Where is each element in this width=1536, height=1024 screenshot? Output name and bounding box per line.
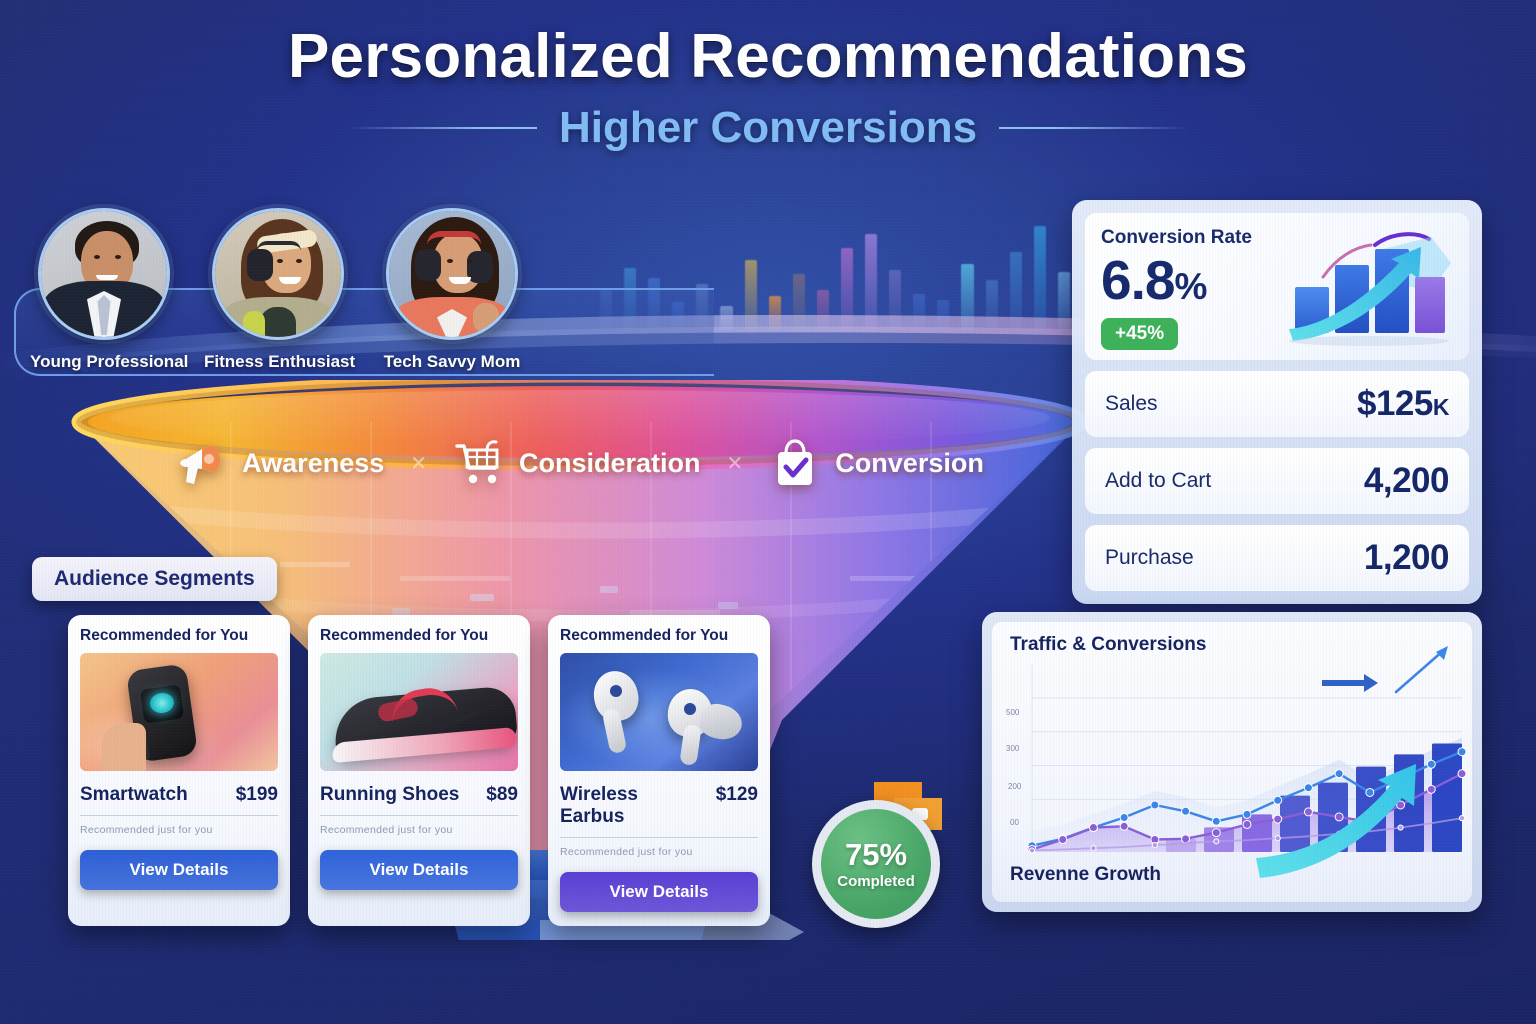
funnel-stage-label: Consideration xyxy=(519,448,701,479)
decor-bar xyxy=(769,296,781,330)
product-title: Smartwatch xyxy=(80,784,188,806)
persona-item[interactable]: Young Professional xyxy=(30,208,178,372)
decor-bar xyxy=(961,264,973,330)
product-card[interactable]: Recommended for You Running Shoes $89 Re… xyxy=(308,615,530,926)
view-details-button[interactable]: View Details xyxy=(320,850,518,890)
growth-bars-arrow-icon xyxy=(1279,229,1459,357)
chart-title: Traffic & Conversions xyxy=(1010,634,1206,656)
page-title: Personalized Recommendations xyxy=(0,24,1536,89)
subtitle-row: Higher Conversions xyxy=(0,103,1536,153)
kpi-row[interactable]: Add to Cart 4,200 xyxy=(1085,448,1469,514)
progress-badge: 75% Completed xyxy=(812,800,940,928)
persona-list: Young Professional Fitness Enthusiast xyxy=(30,208,526,372)
product-card[interactable]: Recommended for You Wireless Earbus $129… xyxy=(548,615,770,926)
card-title-row: Running Shoes $89 xyxy=(320,784,518,806)
kpi-value-suffix: K xyxy=(1433,394,1449,420)
smartwatch-image xyxy=(80,653,278,771)
kpi-row[interactable]: Sales $125K xyxy=(1085,371,1469,437)
decor-bar xyxy=(841,248,853,330)
page-header: Personalized Recommendations Higher Conv… xyxy=(0,24,1536,153)
card-title-row: Smartwatch $199 xyxy=(80,784,278,806)
view-details-button[interactable]: View Details xyxy=(560,872,758,912)
decor-bar xyxy=(1010,252,1022,330)
product-note: Recommended just for you xyxy=(560,846,758,858)
persona-item[interactable]: Fitness Enthusiast xyxy=(204,208,352,372)
conversion-rate-card[interactable]: Conversion Rate 6.8% +45% xyxy=(1085,213,1469,360)
kpi-row-label: Sales xyxy=(1105,392,1158,416)
businessman-avatar xyxy=(38,208,170,340)
chart-canvas xyxy=(992,622,1472,902)
page-subtitle: Higher Conversions xyxy=(559,103,977,153)
product-price: $89 xyxy=(486,784,518,806)
progress-percent: 75% xyxy=(845,839,907,870)
product-price: $129 xyxy=(716,784,758,806)
kpi-row-label: Purchase xyxy=(1105,546,1194,570)
shopping-bag-check-icon xyxy=(769,437,821,489)
decor-bar xyxy=(913,294,925,330)
card-kicker: Recommended for You xyxy=(560,627,758,645)
audience-segments-pill[interactable]: Audience Segments xyxy=(32,557,277,601)
card-title-row: Wireless Earbus $129 xyxy=(560,784,758,828)
kpi-value-main: 1,200 xyxy=(1364,538,1449,577)
persona-item[interactable]: Tech Savvy Mom xyxy=(378,208,526,372)
kpi-value-main: $125 xyxy=(1357,384,1433,423)
conversion-rate-number: 6.8 xyxy=(1101,249,1174,311)
progress-label: Completed xyxy=(837,873,915,890)
funnel-stage-label: Awareness xyxy=(242,448,384,479)
kpi-panel: Conversion Rate 6.8% +45% Sales $125K xyxy=(1072,200,1482,604)
kpi-row-label: Add to Cart xyxy=(1105,469,1211,493)
product-note: Recommended just for you xyxy=(80,824,278,836)
decor-bar xyxy=(937,300,949,330)
product-title: Running Shoes xyxy=(320,784,459,806)
decor-bar xyxy=(817,290,829,330)
decor-bar xyxy=(745,260,757,330)
card-kicker: Recommended for You xyxy=(80,627,278,645)
decor-bar xyxy=(889,270,901,330)
chart-inner: Traffic & Conversions Revenne Growth 500… xyxy=(992,622,1472,902)
kpi-row-value: 1,200 xyxy=(1364,538,1449,578)
subtitle-rule-right xyxy=(999,127,1189,129)
fitness-woman-avatar xyxy=(212,208,344,340)
view-details-button[interactable]: View Details xyxy=(80,850,278,890)
card-divider xyxy=(560,837,758,838)
megaphone-icon xyxy=(176,437,228,489)
kpi-value-main: 4,200 xyxy=(1364,461,1449,500)
funnel-stage-conversion[interactable]: Conversion xyxy=(769,437,984,489)
subtitle-rule-left xyxy=(347,127,537,129)
funnel-stage-consideration[interactable]: Consideration xyxy=(453,437,701,489)
decor-bar xyxy=(793,274,805,330)
funnel-stage-label: Conversion xyxy=(835,448,984,479)
card-divider xyxy=(320,815,518,816)
stage-separator-1: ✕ xyxy=(410,451,427,476)
stage-separator-2: ✕ xyxy=(727,451,744,476)
traffic-conversions-panel: Traffic & Conversions Revenne Growth 500… xyxy=(982,612,1482,912)
kpi-row-value: $125K xyxy=(1357,384,1449,424)
wireless-earbuds-image xyxy=(560,653,758,771)
funnel-stage-list: Awareness ✕ Consideration ✕ xyxy=(70,428,1090,498)
kpi-row[interactable]: Purchase 1,200 xyxy=(1085,525,1469,591)
product-title: Wireless Earbus xyxy=(560,784,706,828)
conversion-rate-unit: % xyxy=(1174,266,1206,307)
product-card[interactable]: Recommended for You Smartwatch $199 Reco… xyxy=(68,615,290,926)
headphones-woman-avatar xyxy=(386,208,518,340)
conversion-delta-badge: +45% xyxy=(1101,318,1178,350)
product-card-list: Recommended for You Smartwatch $199 Reco… xyxy=(68,615,770,926)
decor-bar xyxy=(1058,272,1070,330)
product-price: $199 xyxy=(236,784,278,806)
persona-label: Young Professional xyxy=(30,352,178,372)
chart-sublabel: Revenne Growth xyxy=(1010,864,1161,886)
card-divider xyxy=(80,815,278,816)
decor-bar xyxy=(720,306,732,330)
shopping-cart-icon xyxy=(453,437,505,489)
badge-content: 75% Completed xyxy=(821,809,931,919)
persona-label: Fitness Enthusiast xyxy=(204,352,352,372)
running-shoe-image xyxy=(320,653,518,771)
decor-bar xyxy=(865,234,877,330)
persona-label: Tech Savvy Mom xyxy=(378,352,526,372)
product-note: Recommended just for you xyxy=(320,824,518,836)
funnel-stage-awareness[interactable]: Awareness xyxy=(176,437,384,489)
card-kicker: Recommended for You xyxy=(320,627,518,645)
decor-bar xyxy=(986,280,998,330)
decor-bar xyxy=(1034,226,1046,330)
kpi-row-value: 4,200 xyxy=(1364,461,1449,501)
